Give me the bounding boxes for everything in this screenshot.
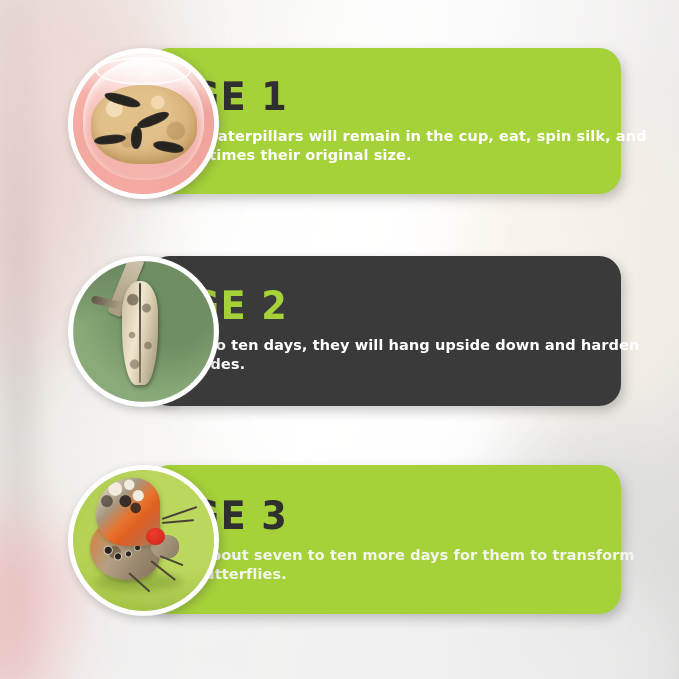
stage-row-2: STAGE 2 After seven to ten days, they wi… [0, 256, 679, 406]
stage-row-3: STAGE 3 It will take about seven to ten … [0, 465, 679, 614]
chrysalis-on-twig-photo [73, 261, 214, 402]
caterpillars-in-cup-photo [73, 53, 214, 194]
photo-chrysalis-markings [122, 281, 157, 385]
stage-2-photo-frame [68, 256, 219, 407]
photo-chrysalis [122, 281, 157, 385]
stage-row-1: STAGE 1 At first, the caterpillars will … [0, 48, 679, 194]
infographic-canvas: STAGE 1 At first, the caterpillars will … [0, 0, 679, 679]
butterfly-red-patch [146, 528, 164, 545]
stage-3-photo-frame [68, 465, 219, 616]
stage-1-photo-frame [68, 48, 219, 199]
painted-lady-butterfly-photo [73, 470, 214, 611]
